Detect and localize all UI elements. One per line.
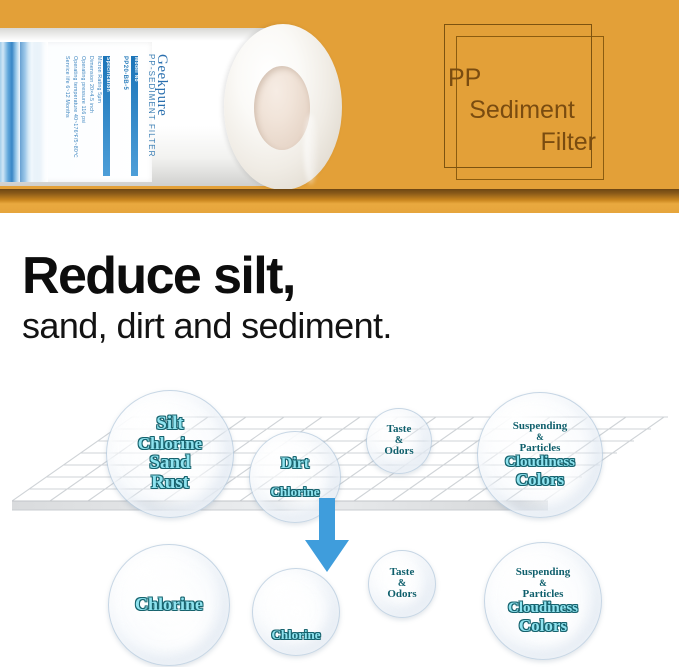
bubble-silt-chlorine-sand-rust: Silt Chlorine Sand Rust	[106, 390, 234, 518]
banner-title-line-1: PP	[448, 62, 596, 94]
filter-end-cap	[224, 24, 342, 190]
bubble-line: Cloudiness	[508, 600, 578, 616]
bubble-line: Colors	[505, 471, 575, 489]
bubble-taste-odors-top: Taste & Odors	[366, 408, 432, 474]
bubble-line: Silt	[138, 414, 202, 435]
label-blue-stripes-graphic	[0, 42, 48, 182]
filter-center-hole	[254, 66, 310, 150]
bubble-line: Chlorine	[271, 628, 320, 642]
bubble-text: Chlorine	[271, 582, 320, 642]
bubble-taste-odors-bottom: Taste & Odors	[368, 550, 436, 618]
bubble-line: Colors	[508, 617, 578, 635]
bubble-line: Taste	[384, 424, 413, 436]
bubble-chlorine-small: Chlorine	[252, 568, 340, 656]
hero-banner: Geekpure PP-SEDIMENT FILTER Model No PP2…	[0, 0, 679, 213]
bubble-suspending-particles-cloudiness-colors-bottom: Suspending & Particles Cloudiness Colors	[484, 542, 602, 660]
bubble-text: Taste & Odors	[387, 567, 416, 602]
bubble-suspending-particles-cloudiness-colors-top: Suspending & Particles Cloudiness Colors	[477, 392, 603, 518]
bubble-line: Odors	[387, 589, 416, 601]
bubble-line: Cloudiness	[505, 454, 575, 470]
bubble-line: Particles	[508, 589, 578, 601]
bubble-line: Rust	[138, 473, 202, 494]
label-spec-label: Specification	[105, 57, 111, 92]
bubble-spacer	[270, 473, 319, 485]
bubble-text: Silt Chlorine Sand Rust	[138, 414, 202, 494]
bubble-text: Taste & Odors	[384, 424, 413, 459]
label-spec-line: Dimension 20×4.5 inch	[88, 56, 94, 113]
label-spec-line: Operating pressure 116 psi	[80, 56, 86, 123]
label-model-label: Model No	[133, 57, 139, 82]
bubble-line: Taste	[387, 567, 416, 579]
label-text-block: Geekpure PP-SEDIMENT FILTER Model No PP2…	[58, 48, 186, 176]
label-spec-line: Operating temperature 40~176℉/5~80℃	[72, 56, 78, 158]
banner-title-line-3: Filter	[448, 126, 596, 158]
label-spec-line: Micron Rating 5μm	[96, 56, 102, 103]
bubble-line: Sand	[138, 453, 202, 474]
bubble-text: Suspending & Particles Cloudiness Colors	[508, 567, 578, 635]
banner-title-line-2: Sediment	[448, 94, 596, 126]
headline-secondary: sand, dirt and sediment.	[22, 304, 662, 348]
label-spec-line: Service life 6~12 Months	[64, 56, 70, 118]
bubble-text: Dirt Chlorine	[270, 455, 319, 498]
bubble-line: Chlorine	[135, 595, 203, 614]
bubble-chlorine-large: Chlorine	[108, 544, 230, 666]
bubble-text: Suspending & Particles Cloudiness Colors	[505, 421, 575, 489]
bubble-text: Chlorine	[135, 595, 203, 614]
label-model-number: PP20-BB-5	[122, 56, 128, 90]
label-product-name: PP-SEDIMENT FILTER	[147, 54, 156, 158]
filtration-diagram: Silt Chlorine Sand Rust Dirt Chlorine Ta…	[0, 370, 679, 667]
product-label: Geekpure PP-SEDIMENT FILTER Model No PP2…	[0, 42, 152, 182]
banner-bottom-strip	[0, 189, 679, 213]
headline-block: Reduce silt, sand, dirt and sediment.	[22, 248, 662, 348]
bubble-line: Dirt	[270, 455, 319, 472]
filter-center-hole-highlight	[304, 114, 318, 184]
bubble-line: Particles	[505, 443, 575, 455]
bubble-line: Odors	[384, 446, 413, 458]
banner-title: PP Sediment Filter	[448, 62, 596, 158]
headline-primary: Reduce silt,	[22, 248, 662, 304]
flow-arrow-icon	[304, 498, 350, 576]
bubble-line: Chlorine	[138, 435, 202, 453]
bubble-line: Chlorine	[270, 485, 319, 499]
product-photo: Geekpure PP-SEDIMENT FILTER Model No PP2…	[0, 24, 374, 190]
